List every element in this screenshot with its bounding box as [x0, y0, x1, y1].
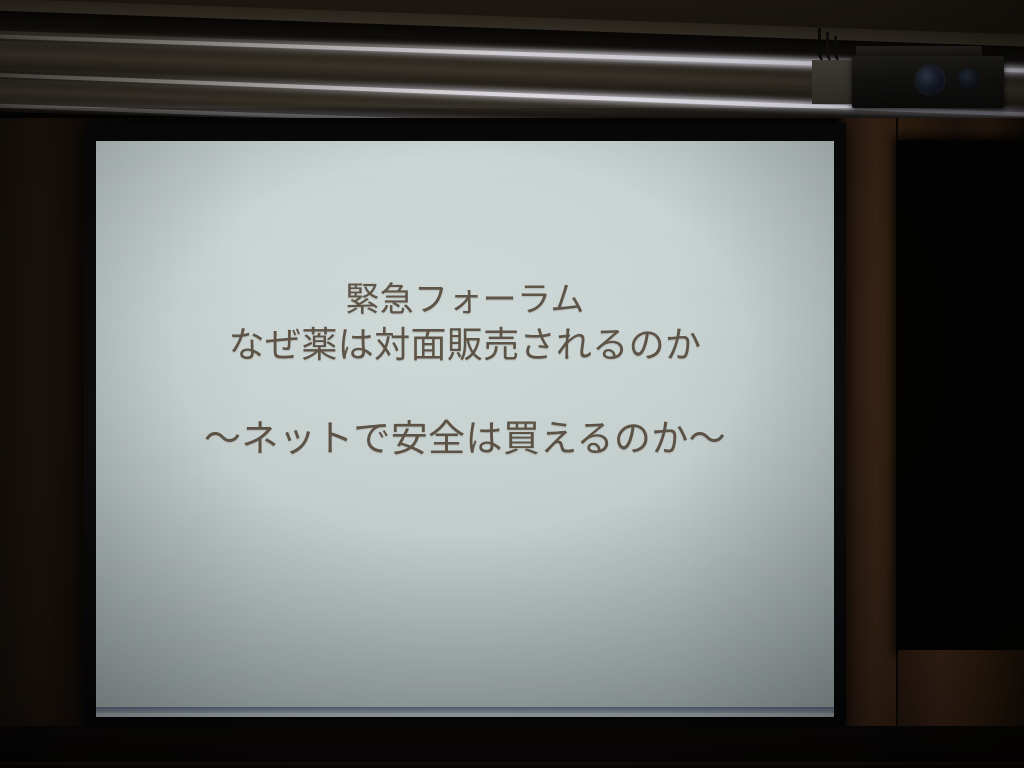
- right-wall-recess-panel: [898, 140, 1024, 650]
- projector-lens-icon: [916, 66, 944, 94]
- slide-content: 緊急フォーラム なぜ薬は対面販売されるのか ～ネットで安全は買えるのか～: [96, 141, 834, 717]
- slide-subtitle: ～ネットで安全は買えるのか～: [204, 417, 726, 461]
- screen-bottom-edge-glow: [96, 707, 834, 713]
- conference-room-photo: 緊急フォーラム なぜ薬は対面販売されるのか ～ネットで安全は買えるのか～ 記 記…: [0, 0, 1024, 768]
- projector-secondary-lens-icon: [958, 68, 980, 90]
- slide-headline: 緊急フォーラム: [345, 280, 584, 320]
- wall-seam-divider: [896, 118, 898, 768]
- projection-screen: 緊急フォーラム なぜ薬は対面販売されるのか ～ネットで安全は買えるのか～: [96, 141, 834, 717]
- slide-subject: なぜ薬は対面販売されるのか: [229, 325, 702, 367]
- desk-front-edge: [0, 762, 1024, 768]
